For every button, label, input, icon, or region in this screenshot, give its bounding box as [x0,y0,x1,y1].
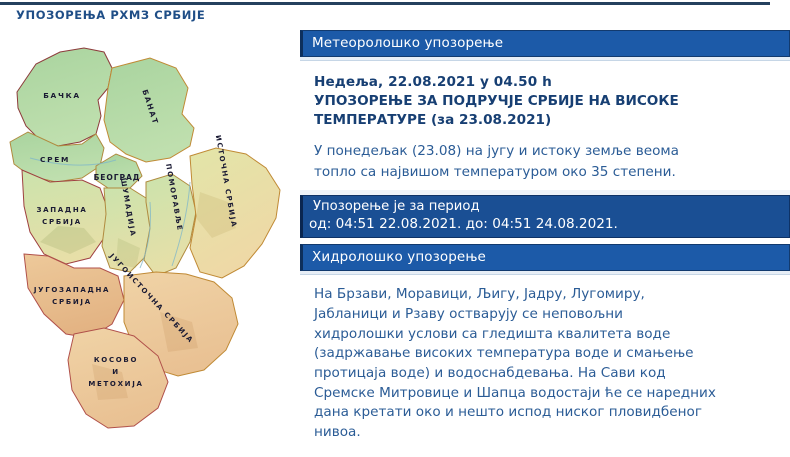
meteo-body-line2: топло са највишом температуром око 35 ст… [314,162,784,182]
map-label-jugozapadna-srbija: СРБИЈА [52,298,92,306]
hydro-body-line6: Сремске Митровице и Шапца водостаји ће с… [314,384,784,404]
meteo-headline-line3: ТЕМПЕРАТУРЕ (за 23.08.2021) [314,111,784,130]
hydro-body-line3: хидролошки услови са гледишта квалитета … [314,325,784,345]
meteo-headline: Недеља, 22.08.2021 у 04.50 h УПОЗОРЕЊЕ З… [300,61,790,131]
region-beograd [96,154,142,188]
warning-period-range: од: 04:51 22.08.2021. до: 04:51 24.08.20… [309,216,783,234]
hydro-body-line2: Јабланици и Рзаву остварују се неповољни [314,305,784,325]
meteo-section-header: Метеоролошко упозорење [300,30,790,57]
hydro-body-line8: нивоа. [314,423,784,443]
map-label-zapadna-srbija: СРБИЈА [42,218,82,226]
meteo-headline-line1: Недеља, 22.08.2021 у 04.50 h [314,73,784,92]
map-label-backa: БАЧКА [43,91,81,100]
bulletin-column: Метеоролошко упозорење Недеља, 22.08.202… [300,30,790,457]
hydro-section-header: Хидролошко упозорење [300,244,790,271]
meteo-body: У понедељак (23.08) на југу и истоку зем… [300,131,790,190]
meteo-headline-line2: УПОЗОРЕЊЕ ЗА ПОДРУЧЈЕ СРБИЈЕ НА ВИСОКЕ [314,92,784,111]
map-svg: БАЧКА БАНАТ СРЕМ БЕОГРАД ЗАПАДНА СРБИЈА … [0,42,292,454]
map-label-srem: СРЕМ [40,155,70,164]
map-label-i: И [112,368,120,376]
page-title: УПОЗОРЕЊА РХМЗ СРБИЈЕ [16,8,205,22]
hydro-body-line5: протицаја воде) и водоснабдевања. На Сав… [314,364,784,384]
warning-period-title: Упозорење је за период [309,199,783,216]
serbia-region-map: БАЧКА БАНАТ СРЕМ БЕОГРАД ЗАПАДНА СРБИЈА … [0,42,292,454]
warning-period-block: Упозорење је за период од: 04:51 22.08.2… [300,195,790,238]
map-label-jugozapadna: ЈУГОЗАПАДНА [33,286,110,294]
meteo-body-line1: У понедељак (23.08) на југу и истоку зем… [314,141,784,161]
map-label-metohija: МЕТОХИЈА [88,380,143,388]
map-label-zapadna: ЗАПАДНА [36,206,87,214]
hydro-body-line1: На Брзави, Моравици, Љигу, Јадру, Лугоми… [314,285,784,305]
hydro-body: На Брзави, Моравици, Љигу, Јадру, Лугоми… [300,275,790,451]
map-label-beograd: БЕОГРАД [94,173,141,182]
bulletin-page: УПОЗОРЕЊА РХМЗ СРБИЈЕ [0,0,790,457]
hydro-body-line4: (задржавање високих температура воде и с… [314,344,784,364]
hydro-body-line7: дана кретати око и нешто испод ниског пл… [314,403,784,423]
top-divider [0,2,770,5]
map-label-kosovo: КОСОВО [94,356,138,364]
